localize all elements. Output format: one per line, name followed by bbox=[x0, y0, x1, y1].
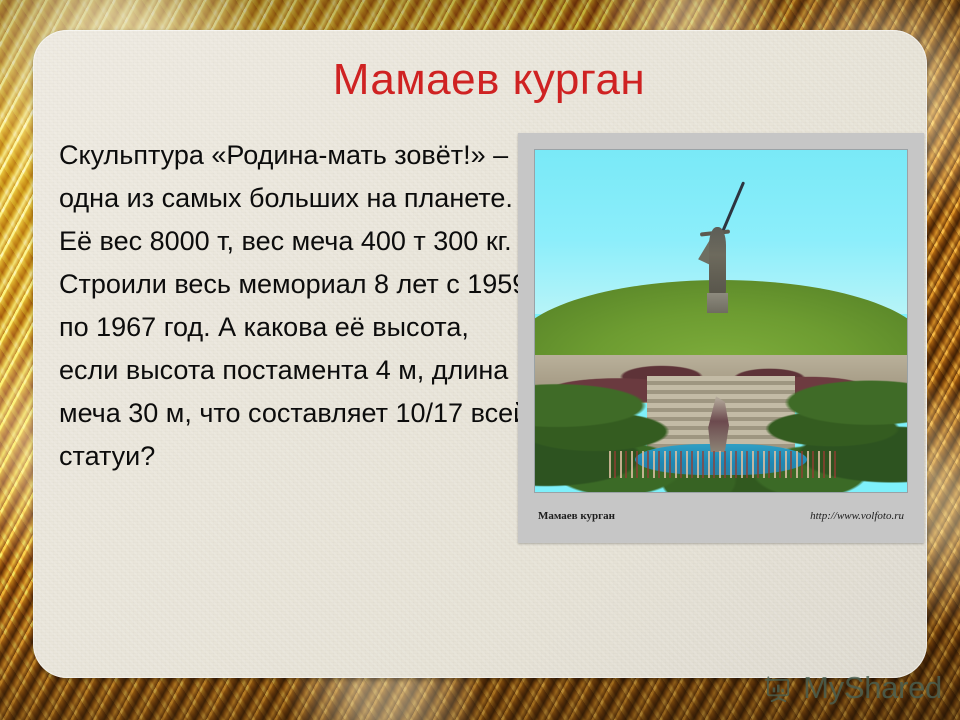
photo-card: Мамаев курган http://www.volfoto.ru bbox=[518, 133, 924, 543]
crowd-region bbox=[609, 451, 840, 478]
statue-pedestal bbox=[707, 293, 728, 313]
photo-caption-label: Мамаев курган bbox=[538, 510, 615, 522]
page-title: Мамаев курган bbox=[33, 58, 927, 102]
slide-content-card: Мамаев курган Скульптура «Родина-мать зо… bbox=[33, 30, 927, 678]
presentation-chart-icon bbox=[763, 673, 794, 704]
photo-source-url: http://www.volfoto.ru bbox=[810, 510, 904, 522]
body-paragraph: Скульптура «Родина-мать зовёт!» – одна и… bbox=[59, 134, 529, 478]
mamayev-kurgan-photo bbox=[534, 149, 908, 493]
statue-figure bbox=[709, 227, 726, 297]
photo-caption-bar: Мамаев курган http://www.volfoto.ru bbox=[534, 493, 908, 539]
myshared-watermark: MyShared bbox=[763, 670, 942, 706]
presentation-slide: Мамаев курган Скульптура «Родина-мать зо… bbox=[0, 0, 960, 720]
myshared-label: MyShared bbox=[803, 670, 942, 706]
motherland-calls-statue-icon bbox=[696, 181, 742, 311]
